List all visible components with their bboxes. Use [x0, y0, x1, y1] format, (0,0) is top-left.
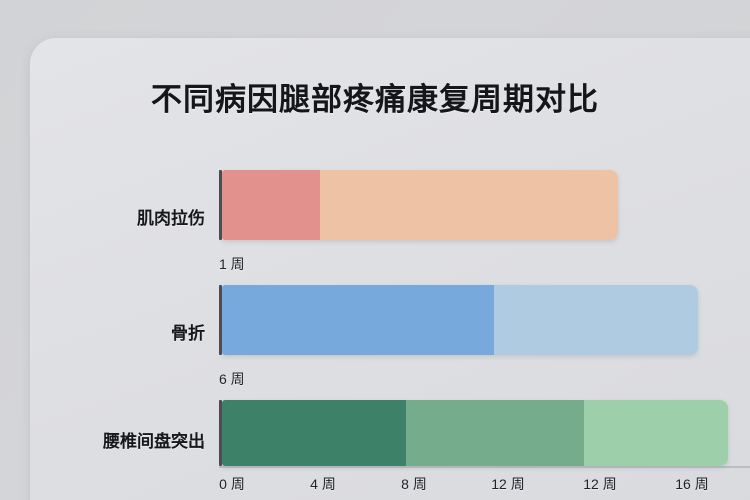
- category-label-0: 肌肉拉伤: [55, 204, 205, 229]
- bar-2-segment-1: [406, 400, 584, 466]
- bar-1-segment-1: [494, 285, 698, 355]
- bar-0-segment-0: [222, 170, 320, 240]
- x-tick-label-0: 0 周: [219, 474, 245, 494]
- bar-0-segment-1: [320, 170, 618, 240]
- start-label-1: 6 周: [219, 369, 245, 389]
- x-tick-label-5: 16 周: [675, 474, 708, 494]
- bar-2[interactable]: [222, 400, 728, 466]
- bar-1-segment-0: [222, 285, 494, 355]
- bar-2-segment-0: [222, 400, 406, 466]
- bar-0[interactable]: [222, 170, 618, 240]
- bar-1[interactable]: [222, 285, 698, 355]
- x-tick-label-3: 12 周: [491, 474, 524, 494]
- category-label-2: 腰椎间盘突出: [45, 427, 205, 452]
- category-label-1: 骨折: [55, 319, 205, 344]
- page-title: 不同病因腿部疼痛康复周期对比: [0, 74, 750, 119]
- start-label-0: 1 周: [219, 254, 245, 274]
- bar-2-segment-2: [584, 400, 728, 466]
- x-tick-label-1: 4 周: [310, 474, 336, 494]
- x-tick-label-2: 8 周: [401, 474, 427, 494]
- x-tick-label-4: 12 周: [583, 474, 616, 494]
- x-axis-line: [219, 466, 750, 468]
- chart-screenshot: 不同病因腿部疼痛康复周期对比 肌肉拉伤 1 周 骨折 6 周 腰椎间盘突出 0 …: [0, 0, 750, 500]
